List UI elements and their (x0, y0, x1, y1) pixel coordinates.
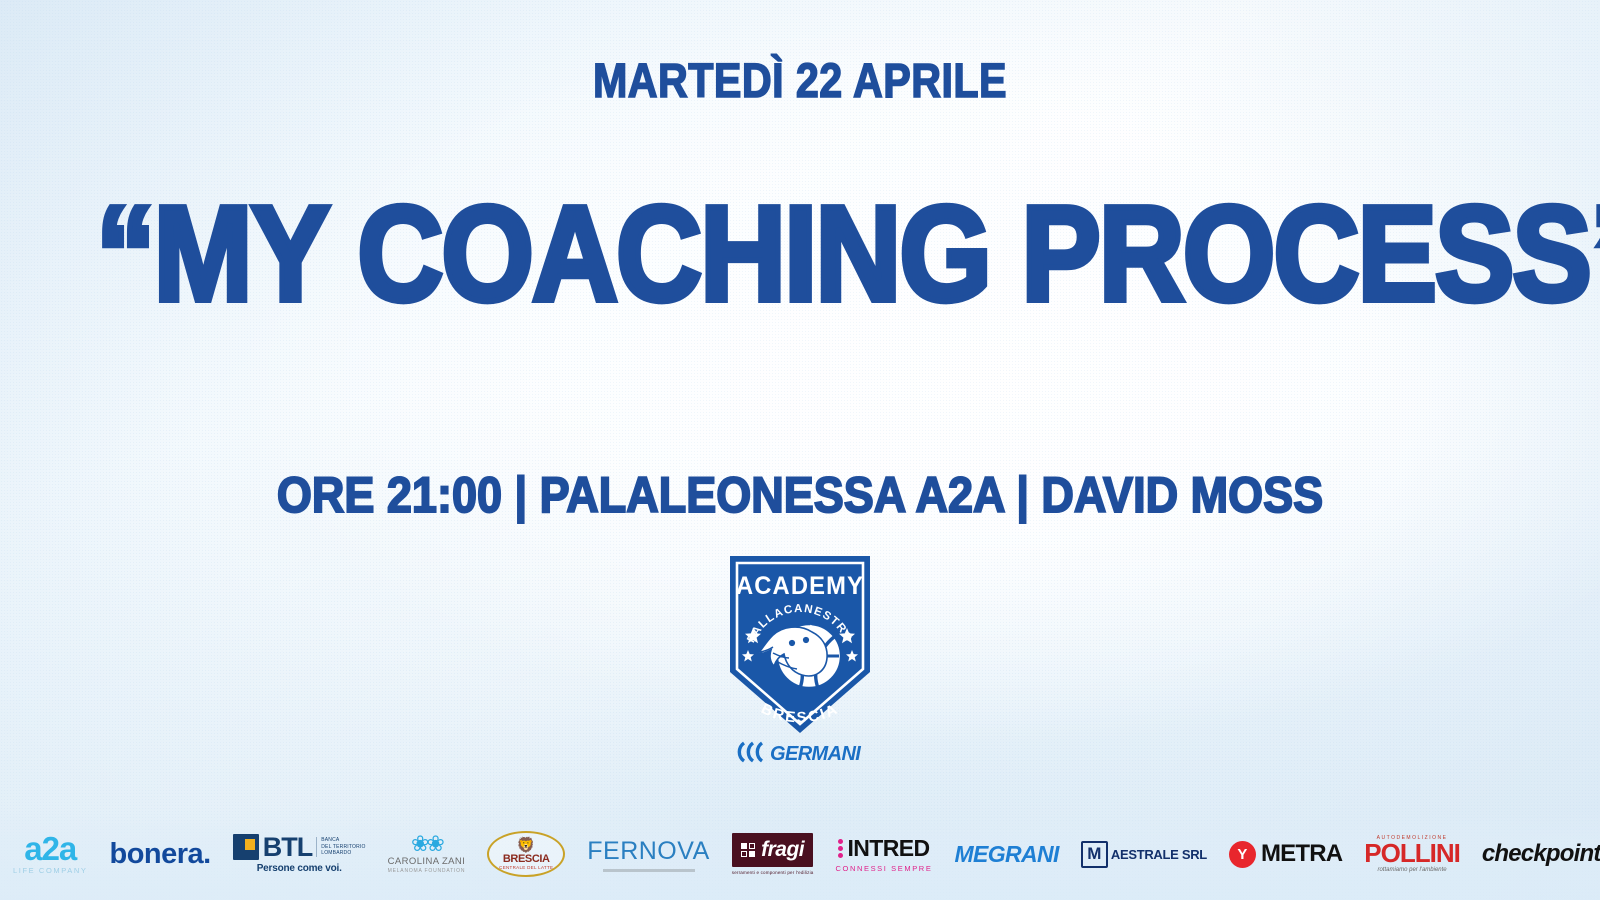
sponsor-bar: a2a LIFE COMPANY bonera. BTL BANCA DEL T… (0, 808, 1600, 900)
sponsor-a2a-tagline: LIFE COMPANY (13, 866, 88, 875)
sponsor-checkpoint-name: checkpoint. (1482, 840, 1600, 868)
sponsor-pollini[interactable]: AUTODEMOLIZIONE POLLINI rottamiamo per l… (1353, 819, 1471, 889)
sponsor-intred[interactable]: INTRED CONNESSI SEMPRE (825, 819, 944, 889)
shield-logo-icon: ACADEMY PALLACANESTRO (726, 552, 874, 737)
sponsor-zani-sub: MELANOMA FOUNDATION (388, 868, 466, 874)
sponsor-intred-tagline: CONNESSI SEMPRE (836, 864, 933, 873)
fragi-dots-icon (741, 843, 755, 857)
germani-arc-icon (739, 743, 762, 761)
sponsor-btl-tagline: Persone come voi. (257, 863, 342, 874)
sponsor-metra[interactable]: Y METRA (1218, 819, 1353, 889)
sponsor-intred-name: INTRED (847, 835, 929, 862)
sponsor-btl[interactable]: BTL BANCA DEL TERRITORIO LOMBARDO Person… (222, 819, 377, 889)
sponsor-carolina-zani[interactable]: ❀❀ CAROLINA ZANI MELANOMA FOUNDATION (377, 819, 477, 889)
sponsor-pollini-tagline: rottamiamo per l'ambiente (1377, 867, 1446, 873)
fernova-underline (603, 869, 695, 872)
sponsor-btl-descriptor: BANCA DEL TERRITORIO LOMBARDO (316, 837, 365, 857)
sponsor-metra-name: METRA (1261, 840, 1342, 868)
sponsor-a2a-name: a2a (24, 833, 76, 864)
sponsor-maestrale-name: AESTRALE SRL (1111, 847, 1207, 862)
maestrale-m-icon: M (1081, 841, 1108, 868)
sponsor-a2a[interactable]: a2a LIFE COMPANY (2, 819, 99, 889)
sponsor-brescia-latte[interactable]: 🦁 BRESCIA CENTRALE DEL LATTE (476, 819, 576, 889)
btl-square-icon (233, 834, 259, 860)
event-details-line: ORE 21:00 | PALALEONESSA A2A | DAVID MOS… (80, 466, 1520, 524)
sponsor-brescia-name: BRESCIA (503, 853, 550, 865)
sponsor-fragi-sub: serramenti e componenti per l'edilizia (732, 870, 814, 875)
sponsor-zani-name: CAROLINA ZANI (388, 856, 466, 867)
sponsor-megrani[interactable]: MEGRANI (943, 819, 1069, 889)
event-title: “MY COACHING PROCESS” (96, 186, 1504, 321)
sponsor-bonera[interactable]: bonera. (99, 819, 222, 889)
sponsor-maestrale[interactable]: M AESTRALE SRL (1070, 819, 1218, 889)
sponsor-fragi-name: fragi (761, 838, 804, 862)
intred-dots-icon (838, 839, 843, 858)
sponsor-btl-name: BTL (263, 835, 312, 859)
sponsor-fernova-name: FERNOVA (587, 837, 710, 866)
sponsor-checkpoint[interactable]: checkpoint. (1471, 819, 1600, 889)
germani-sponsor-logo: GERMANI (730, 739, 870, 765)
germani-text: GERMANI (770, 743, 861, 765)
metra-mark-icon: Y (1229, 841, 1256, 868)
event-poster: MARTEDÌ 22 APRILE “MY COACHING PROCESS” … (0, 0, 1600, 900)
crest-academy-text: ACADEMY (736, 572, 864, 600)
sponsor-megrani-name: MEGRANI (954, 841, 1058, 868)
sponsor-brescia-sub: CENTRALE DEL LATTE (499, 865, 553, 870)
poster-content: MARTEDÌ 22 APRILE “MY COACHING PROCESS” … (0, 0, 1600, 900)
sponsor-fragi[interactable]: fragi serramenti e componenti per l'edil… (721, 819, 825, 889)
academy-crest: ACADEMY PALLACANESTRO (720, 552, 880, 765)
sponsor-bonera-name: bonera. (110, 838, 211, 871)
lion-icon: 🦁 (517, 838, 536, 853)
sponsor-pollini-name: POLLINI (1364, 841, 1460, 866)
sponsor-fernova[interactable]: FERNOVA (576, 819, 721, 889)
butterfly-icon: ❀❀ (411, 834, 442, 854)
event-date: MARTEDÌ 22 APRILE (112, 54, 1488, 109)
